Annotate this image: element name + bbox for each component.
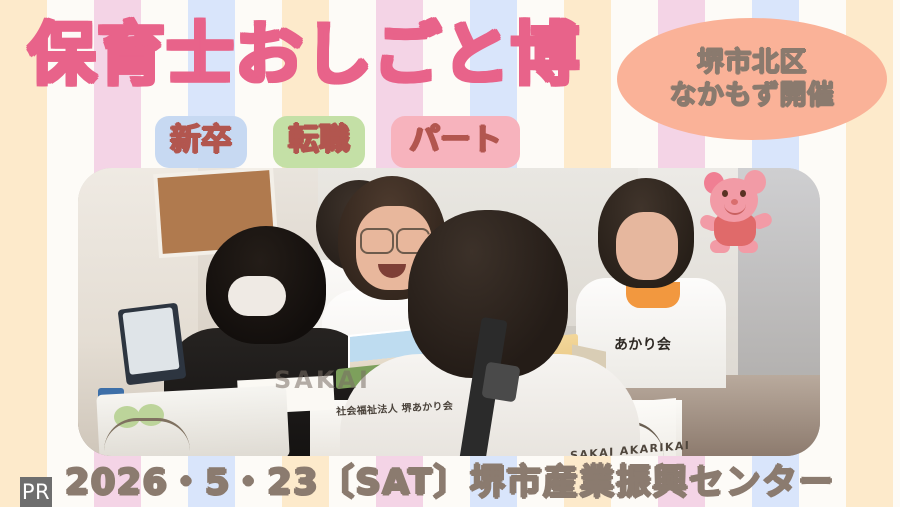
- glasses-left-lens-icon: [360, 228, 394, 254]
- pr-badge: PR: [20, 477, 52, 507]
- location-line-1: 堺市北区: [697, 47, 807, 78]
- photo-booth-sign-text: あかり会: [614, 334, 671, 354]
- category-badge-group: 新卒 転職 パート: [155, 116, 520, 168]
- ad-banner[interactable]: 保育士おしごと博 堺市北区 なかもず開催 新卒 転職 パート: [0, 0, 900, 507]
- page-title: 保育士おしごと博: [28, 22, 580, 90]
- badge-career-change[interactable]: 転職: [273, 116, 365, 168]
- location-bubble: 堺市北区 なかもず開催: [617, 18, 887, 140]
- badge-new-graduate[interactable]: 新卒: [155, 116, 247, 168]
- photo-staff-right-face: [616, 212, 678, 280]
- event-photo: SAKAI あかり会 社会福祉法人 堺あかり会 SAKAI AKARIKAI: [78, 168, 820, 456]
- face-mask-icon: [228, 276, 286, 316]
- photo-tablet-screen: [122, 307, 179, 375]
- badge-part-time[interactable]: パート: [391, 116, 520, 168]
- bear-mascot-icon: [700, 170, 770, 254]
- location-line-2: なかもず開催: [670, 80, 835, 111]
- photo-backdrop-watermark: SAKAI: [274, 366, 371, 394]
- photo-visitor-bag-buckle: [481, 362, 520, 403]
